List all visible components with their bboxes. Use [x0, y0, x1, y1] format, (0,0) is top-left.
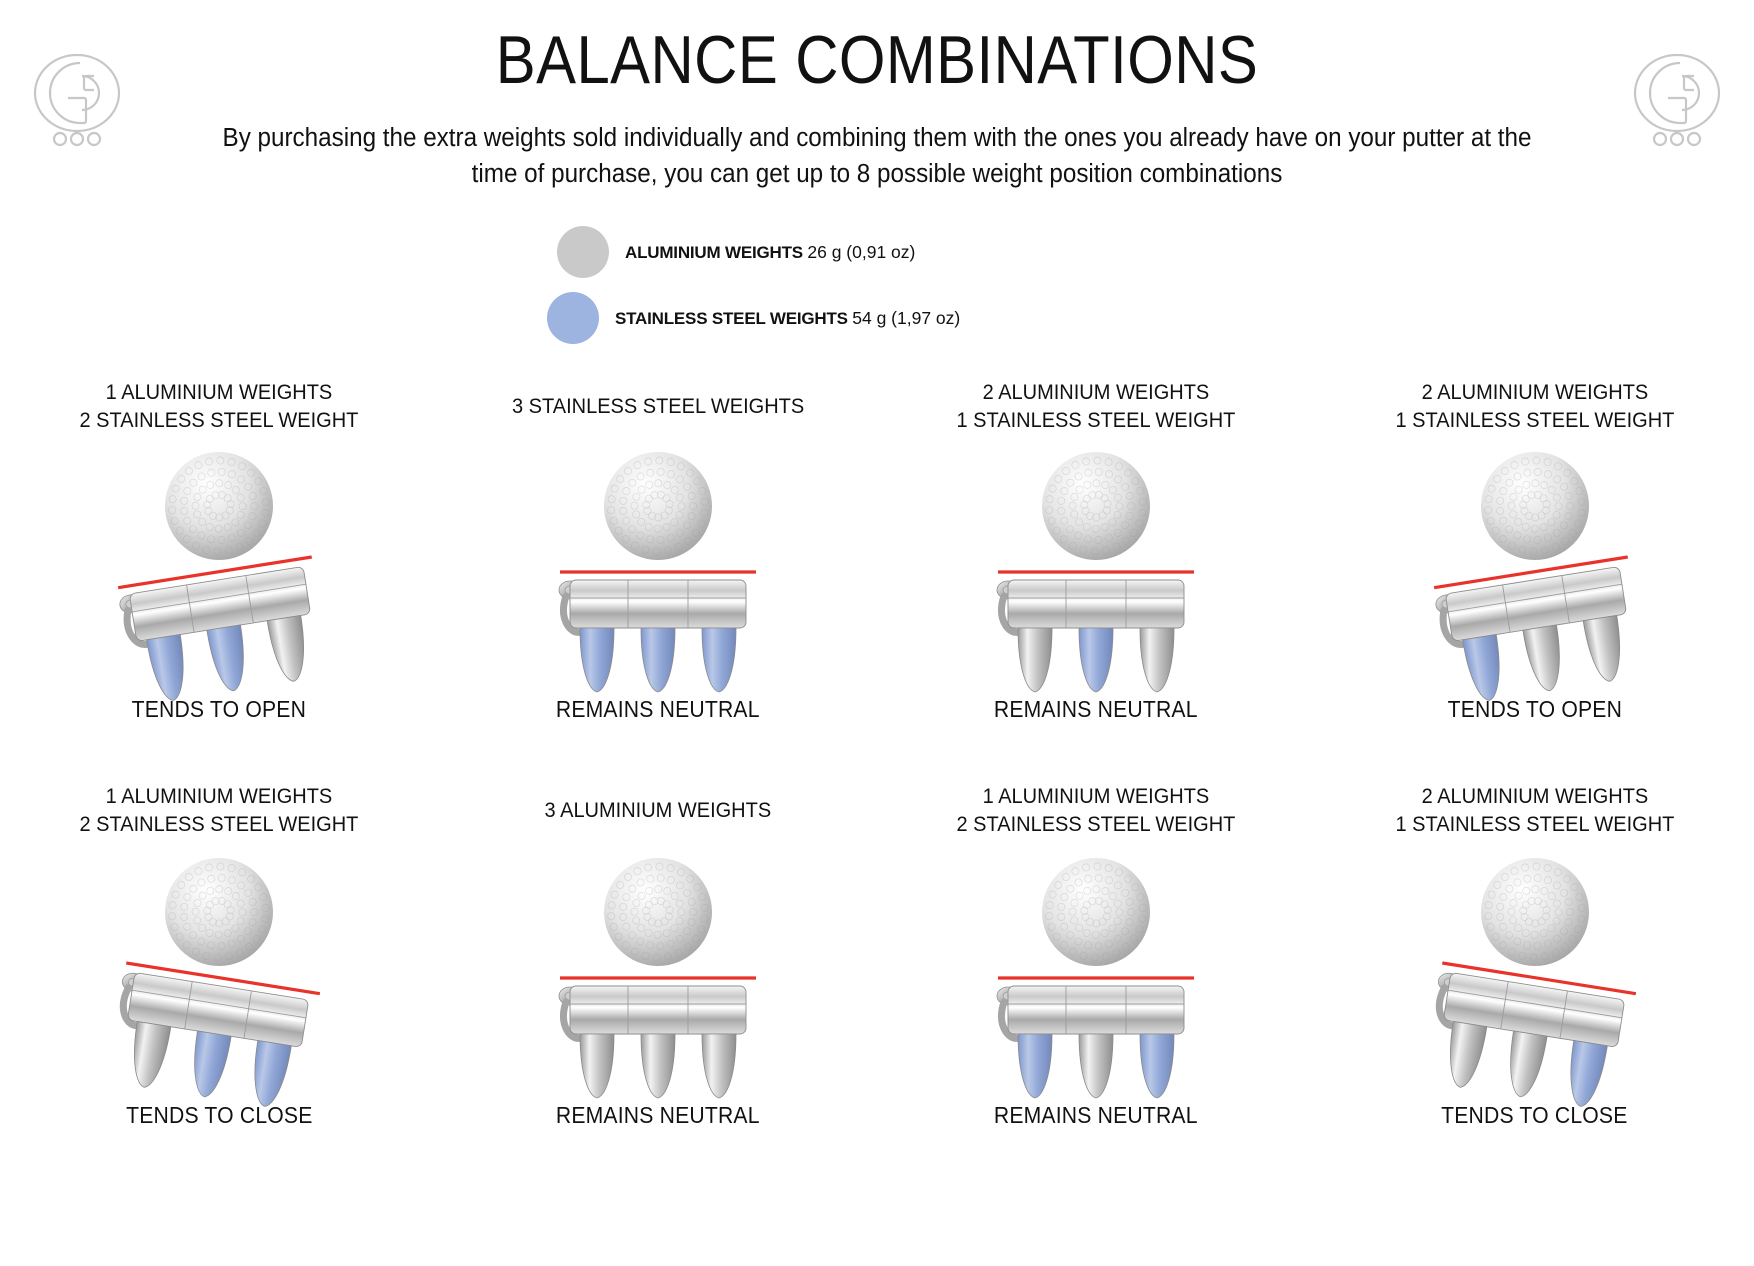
combination-caption: 1 ALUMINIUM WEIGHTS2 STAINLESS STEEL WEI…	[80, 782, 359, 842]
legend-aluminium-label: ALUMINIUM WEIGHTS	[625, 243, 803, 262]
weight-plug-0	[1462, 635, 1506, 704]
combination-caption: 3 ALUMINIUM WEIGHTS	[544, 782, 771, 842]
weight-plug-2	[1140, 1034, 1174, 1098]
balance-status-label: TENDS TO CLOSE	[1442, 1102, 1628, 1129]
putter-balance-diagram	[931, 846, 1261, 1096]
legend-steel-value: 54 g (1,97 oz)	[852, 308, 960, 328]
combination-panel-8: 2 ALUMINIUM WEIGHTS1 STAINLESS STEEL WEI…	[1316, 782, 1754, 1186]
weight-plug-1	[1079, 628, 1113, 692]
legend-item-stainless-steel: STAINLESS STEEL WEIGHTS 54 g (1,97 oz)	[547, 292, 960, 344]
putter-balance-diagram	[54, 440, 384, 690]
weight-plug-1	[207, 625, 251, 694]
caption-line-2: 2 STAINLESS STEEL WEIGHT	[957, 810, 1236, 838]
combination-illustration-2	[931, 440, 1261, 690]
caption-line-1: 3 STAINLESS STEEL WEIGHTS	[512, 394, 804, 418]
page-subtitle: By purchasing the extra weights sold ind…	[198, 120, 1557, 192]
circle-swatch-steel-icon	[547, 292, 599, 344]
golf-ball-icon	[604, 858, 712, 966]
balance-status-label: REMAINS NEUTRAL	[556, 1102, 760, 1129]
caption-line-2: 2 STAINLESS STEEL WEIGHT	[80, 810, 359, 838]
combination-illustration-0	[54, 440, 384, 690]
balance-status-label: TENDS TO CLOSE	[126, 1102, 312, 1129]
legend-steel-label: STAINLESS STEEL WEIGHTS	[615, 309, 848, 328]
balance-status-label: REMAINS NEUTRAL	[556, 696, 760, 723]
caption-line-1: 1 ALUMINIUM WEIGHTS	[106, 784, 333, 808]
combination-illustration-3	[1370, 440, 1700, 690]
combination-panel-2: 3 STAINLESS STEEL WEIGHTS	[439, 378, 878, 782]
balance-status-label: TENDS TO OPEN	[1448, 696, 1622, 723]
page-title: BALANCE COMBINATIONS	[105, 26, 1649, 94]
combination-illustration-7	[1370, 846, 1700, 1096]
combination-panel-1: 1 ALUMINIUM WEIGHTS2 STAINLESS STEEL WEI…	[0, 378, 439, 782]
weight-plug-1	[1079, 1034, 1113, 1098]
weight-plug-1	[188, 1031, 232, 1100]
golf-ball-icon	[1481, 858, 1589, 966]
balance-status-label: REMAINS NEUTRAL	[994, 1102, 1198, 1129]
weights-legend: ALUMINIUM WEIGHTS 26 g (0,91 oz) STAINLE…	[557, 226, 1197, 346]
golf-ball-icon	[165, 858, 273, 966]
combination-caption: 2 ALUMINIUM WEIGHTS1 STAINLESS STEEL WEI…	[1395, 782, 1674, 842]
combination-panel-4: 2 ALUMINIUM WEIGHTS1 STAINLESS STEEL WEI…	[1316, 378, 1754, 782]
circle-swatch-aluminium-icon	[557, 226, 609, 278]
weight-plug-1	[1523, 625, 1567, 694]
balance-status-label: REMAINS NEUTRAL	[994, 696, 1198, 723]
combination-caption: 1 ALUMINIUM WEIGHTS2 STAINLESS STEEL WEI…	[80, 378, 359, 436]
weight-plug-2	[702, 1034, 736, 1098]
combinations-grid: 1 ALUMINIUM WEIGHTS2 STAINLESS STEEL WEI…	[0, 378, 1754, 1186]
caption-line-2: 1 STAINLESS STEEL WEIGHT	[1395, 810, 1674, 838]
combination-illustration-6	[931, 846, 1261, 1096]
putter-balance-diagram	[1370, 846, 1700, 1096]
putter-weight-bar	[1008, 580, 1184, 628]
putter-balance-diagram	[54, 846, 384, 1096]
weight-plug-2	[248, 1041, 292, 1110]
putter-weight-bar	[1008, 986, 1184, 1034]
golf-ball-icon	[1481, 452, 1589, 560]
weight-plug-1	[641, 628, 675, 692]
combination-caption: 3 STAINLESS STEEL WEIGHTS	[512, 378, 804, 436]
weight-plug-1	[641, 1034, 675, 1098]
combination-caption: 2 ALUMINIUM WEIGHTS1 STAINLESS STEEL WEI…	[957, 378, 1236, 436]
golf-ball-icon	[1042, 452, 1150, 560]
weight-plug-2	[702, 628, 736, 692]
weight-plug-0	[1018, 628, 1052, 692]
weight-plug-0	[128, 1021, 172, 1090]
weight-plug-0	[580, 1034, 614, 1098]
golf-ball-icon	[604, 452, 712, 560]
caption-line-2: 1 STAINLESS STEEL WEIGHT	[957, 406, 1236, 434]
combination-panel-6: 3 ALUMINIUM WEIGHTS	[439, 782, 878, 1186]
putter-weight-bar	[570, 986, 746, 1034]
weight-plug-1	[1503, 1031, 1547, 1100]
putter-balance-diagram	[931, 440, 1261, 690]
combination-caption: 1 ALUMINIUM WEIGHTS2 STAINLESS STEEL WEI…	[957, 782, 1236, 842]
combination-illustration-4	[54, 846, 384, 1096]
caption-line-1: 2 ALUMINIUM WEIGHTS	[1421, 784, 1648, 808]
combination-panel-5: 1 ALUMINIUM WEIGHTS2 STAINLESS STEEL WEI…	[0, 782, 439, 1186]
caption-line-1: 3 ALUMINIUM WEIGHTS	[544, 798, 771, 822]
caption-line-2: 2 STAINLESS STEEL WEIGHT	[80, 406, 359, 434]
putter-balance-diagram	[493, 440, 823, 690]
legend-aluminium-value: 26 g (0,91 oz)	[807, 242, 915, 262]
weight-plug-0	[1018, 1034, 1052, 1098]
combination-panel-3: 2 ALUMINIUM WEIGHTS1 STAINLESS STEEL WEI…	[877, 378, 1316, 782]
weight-plug-2	[267, 615, 311, 684]
combination-illustration-1	[493, 440, 823, 690]
caption-line-1: 1 ALUMINIUM WEIGHTS	[106, 380, 333, 404]
weight-plug-0	[1443, 1021, 1487, 1090]
weight-plug-0	[147, 635, 191, 704]
weight-plug-2	[1583, 615, 1627, 684]
weight-plug-0	[580, 628, 614, 692]
putter-weight-bar	[570, 580, 746, 628]
caption-line-2: 1 STAINLESS STEEL WEIGHT	[1395, 406, 1674, 434]
combination-panel-7: 1 ALUMINIUM WEIGHTS2 STAINLESS STEEL WEI…	[877, 782, 1316, 1186]
weight-plug-2	[1140, 628, 1174, 692]
caption-line-1: 2 ALUMINIUM WEIGHTS	[983, 380, 1210, 404]
combination-illustration-5	[493, 846, 823, 1096]
golf-ball-icon	[165, 452, 273, 560]
weight-plug-2	[1564, 1041, 1608, 1110]
legend-item-aluminium: ALUMINIUM WEIGHTS 26 g (0,91 oz)	[557, 226, 915, 278]
balance-status-label: TENDS TO OPEN	[132, 696, 306, 723]
putter-balance-diagram	[493, 846, 823, 1096]
putter-balance-diagram	[1370, 440, 1700, 690]
golf-ball-icon	[1042, 858, 1150, 966]
caption-line-1: 2 ALUMINIUM WEIGHTS	[1421, 380, 1648, 404]
caption-line-1: 1 ALUMINIUM WEIGHTS	[983, 784, 1210, 808]
combination-caption: 2 ALUMINIUM WEIGHTS1 STAINLESS STEEL WEI…	[1395, 378, 1674, 436]
